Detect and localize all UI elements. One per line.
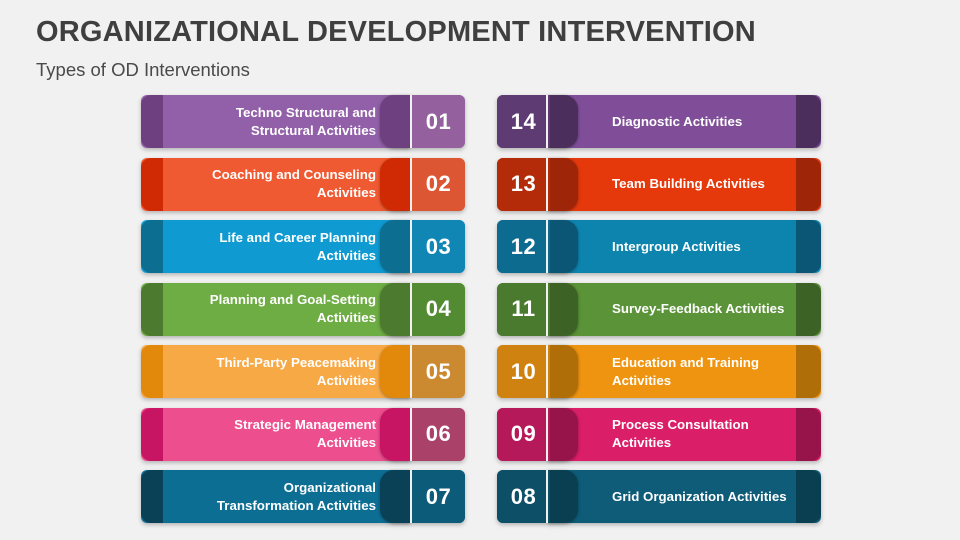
- row-body: Survey-Feedback Activities: [548, 283, 796, 336]
- intervention-label: Techno Structural and Structural Activit…: [196, 104, 376, 139]
- intervention-row[interactable]: Diagnostic Activities14: [497, 95, 821, 148]
- intervention-label: Intergroup Activities: [612, 238, 741, 256]
- row-inner-tab: [548, 158, 578, 211]
- row-separator: [410, 408, 412, 461]
- row-number-box: 14: [497, 95, 550, 148]
- intervention-number: 02: [426, 173, 451, 195]
- row-number-box: 05: [412, 345, 465, 398]
- row-separator: [410, 283, 412, 336]
- row-body: Organizational Transformation Activities: [163, 470, 410, 523]
- row-number-box: 07: [412, 470, 465, 523]
- intervention-number: 09: [511, 423, 536, 445]
- row-body: Diagnostic Activities: [548, 95, 796, 148]
- row-body: Process Consultation Activities: [548, 408, 796, 461]
- row-inner-tab: [548, 283, 578, 336]
- row-body: Coaching and Counseling Activities: [163, 158, 410, 211]
- row-number-box: 01: [412, 95, 465, 148]
- page-title: ORGANIZATIONAL DEVELOPMENT INTERVENTION: [36, 16, 916, 49]
- row-inner-tab: [380, 283, 410, 336]
- row-number-box: 08: [497, 470, 550, 523]
- intervention-number: 06: [426, 423, 451, 445]
- row-number-box: 12: [497, 220, 550, 273]
- row-body: Team Building Activities: [548, 158, 796, 211]
- row-separator: [410, 470, 412, 523]
- intervention-label: Organizational Transformation Activities: [196, 479, 376, 514]
- intervention-row[interactable]: Intergroup Activities12: [497, 220, 821, 273]
- row-separator: [410, 220, 412, 273]
- row-inner-tab: [380, 470, 410, 523]
- row-separator: [410, 95, 412, 148]
- intervention-label: Life and Career Planning Activities: [196, 229, 376, 264]
- row-body: Life and Career Planning Activities: [163, 220, 410, 273]
- row-number-box: 02: [412, 158, 465, 211]
- intervention-row[interactable]: Education and Training Activities10: [497, 345, 821, 398]
- row-body: Education and Training Activities: [548, 345, 796, 398]
- row-body: Techno Structural and Structural Activit…: [163, 95, 410, 148]
- row-inner-tab: [548, 470, 578, 523]
- intervention-number: 04: [426, 298, 451, 320]
- intervention-row[interactable]: Strategic Management Activities06: [141, 408, 465, 461]
- intervention-row[interactable]: Techno Structural and Structural Activit…: [141, 95, 465, 148]
- row-inner-tab: [380, 220, 410, 273]
- row-inner-tab: [548, 95, 578, 148]
- od-interventions-chart: Techno Structural and Structural Activit…: [0, 95, 960, 535]
- page-subtitle: Types of OD Interventions: [36, 59, 916, 80]
- intervention-number: 08: [511, 486, 536, 508]
- row-inner-tab: [380, 408, 410, 461]
- intervention-label: Planning and Goal-Setting Activities: [196, 291, 376, 326]
- intervention-number: 07: [426, 486, 451, 508]
- row-inner-tab: [548, 345, 578, 398]
- intervention-number: 14: [511, 111, 536, 133]
- intervention-row[interactable]: Organizational Transformation Activities…: [141, 470, 465, 523]
- row-separator: [546, 345, 548, 398]
- slide-header: ORGANIZATIONAL DEVELOPMENT INTERVENTION …: [36, 16, 916, 81]
- row-separator: [546, 220, 548, 273]
- row-inner-tab: [380, 95, 410, 148]
- intervention-row[interactable]: Team Building Activities13: [497, 158, 821, 211]
- row-inner-tab: [548, 220, 578, 273]
- row-body: Strategic Management Activities: [163, 408, 410, 461]
- row-separator: [410, 345, 412, 398]
- intervention-row[interactable]: Survey-Feedback Activities11: [497, 283, 821, 336]
- row-number-box: 10: [497, 345, 550, 398]
- row-separator: [546, 158, 548, 211]
- intervention-label: Team Building Activities: [612, 175, 765, 193]
- row-separator: [546, 95, 548, 148]
- intervention-label: Education and Training Activities: [612, 354, 792, 389]
- intervention-label: Process Consultation Activities: [612, 416, 792, 451]
- intervention-label: Third-Party Peacemaking Activities: [196, 354, 376, 389]
- row-separator: [410, 158, 412, 211]
- intervention-row[interactable]: Grid Organization Activities08: [497, 470, 821, 523]
- intervention-number: 12: [511, 236, 536, 258]
- intervention-row[interactable]: Planning and Goal-Setting Activities04: [141, 283, 465, 336]
- intervention-row[interactable]: Third-Party Peacemaking Activities05: [141, 345, 465, 398]
- row-number-box: 13: [497, 158, 550, 211]
- intervention-label: Diagnostic Activities: [612, 113, 742, 131]
- row-inner-tab: [380, 345, 410, 398]
- row-inner-tab: [548, 408, 578, 461]
- intervention-row[interactable]: Process Consultation Activities09: [497, 408, 821, 461]
- row-separator: [546, 408, 548, 461]
- intervention-row[interactable]: Coaching and Counseling Activities02: [141, 158, 465, 211]
- intervention-label: Grid Organization Activities: [612, 488, 787, 506]
- intervention-number: 01: [426, 111, 451, 133]
- row-number-box: 03: [412, 220, 465, 273]
- intervention-row[interactable]: Life and Career Planning Activities03: [141, 220, 465, 273]
- row-body: Planning and Goal-Setting Activities: [163, 283, 410, 336]
- row-number-box: 06: [412, 408, 465, 461]
- row-body: Grid Organization Activities: [548, 470, 796, 523]
- intervention-label: Coaching and Counseling Activities: [196, 166, 376, 201]
- intervention-label: Survey-Feedback Activities: [612, 300, 784, 318]
- intervention-number: 03: [426, 236, 451, 258]
- intervention-number: 13: [511, 173, 536, 195]
- intervention-number: 11: [511, 298, 535, 320]
- row-body: Third-Party Peacemaking Activities: [163, 345, 410, 398]
- row-number-box: 04: [412, 283, 465, 336]
- row-body: Intergroup Activities: [548, 220, 796, 273]
- intervention-number: 05: [426, 361, 451, 383]
- intervention-label: Strategic Management Activities: [196, 416, 376, 451]
- intervention-number: 10: [511, 361, 536, 383]
- row-number-box: 09: [497, 408, 550, 461]
- row-separator: [546, 470, 548, 523]
- row-separator: [546, 283, 548, 336]
- row-inner-tab: [380, 158, 410, 211]
- row-number-box: 11: [497, 283, 550, 336]
